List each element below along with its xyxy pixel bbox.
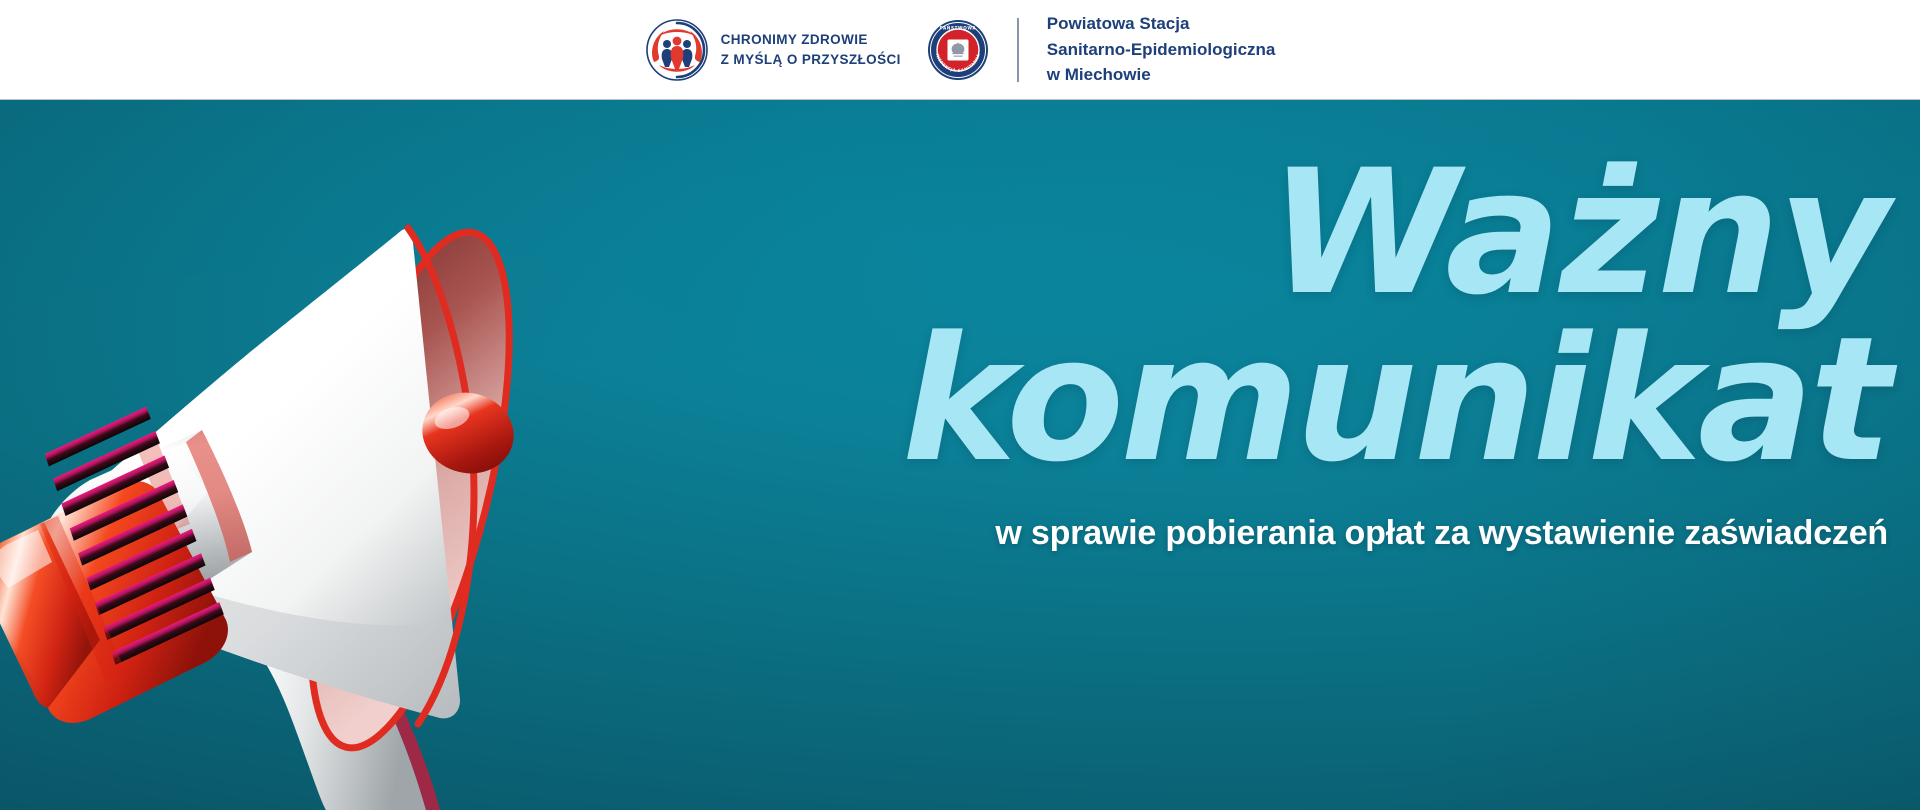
tagline-line-1: CHRONIMY ZDROWIE — [721, 30, 901, 50]
tagline: CHRONIMY ZDROWIE Z MYŚLĄ O PRZYSZŁOŚCI — [721, 30, 901, 69]
svg-text:PAŃSTWOWA: PAŃSTWOWA — [940, 25, 977, 30]
tagline-line-2: Z MYŚLĄ O PRZYSZŁOŚCI — [721, 50, 901, 70]
organization-line-3: w Miechowie — [1047, 62, 1276, 88]
organization-name: Powiatowa Stacja Sanitarno-Epidemiologic… — [1047, 11, 1276, 88]
organization-line-2: Sanitarno-Epidemiologiczna — [1047, 37, 1276, 63]
site-header: CHRONIMY ZDROWIE Z MYŚLĄ O PRZYSZŁOŚCI P… — [0, 0, 1920, 100]
organization-line-1: Powiatowa Stacja — [1047, 11, 1276, 37]
state-sanitary-inspection-seal-icon: PAŃSTWOWA INSPEKCJA SANITARNA — [927, 19, 989, 81]
megaphone-illustration-icon — [0, 100, 760, 810]
vertical-divider-icon — [1017, 18, 1019, 82]
headline-line-1: Ważny — [808, 150, 1888, 317]
header-content: CHRONIMY ZDROWIE Z MYŚLĄ O PRZYSZŁOŚCI P… — [645, 11, 1276, 88]
banner-subtitle: w sprawie pobierania opłat za wystawieni… — [808, 514, 1888, 553]
health-people-circle-logo-icon — [645, 18, 709, 82]
banner-text-block: Ważny komunikat w sprawie pobierania opł… — [808, 150, 1888, 553]
headline-line-2: komunikat — [808, 317, 1888, 484]
communication-banner-page: CHRONIMY ZDROWIE Z MYŚLĄ O PRZYSZŁOŚCI P… — [0, 0, 1920, 810]
